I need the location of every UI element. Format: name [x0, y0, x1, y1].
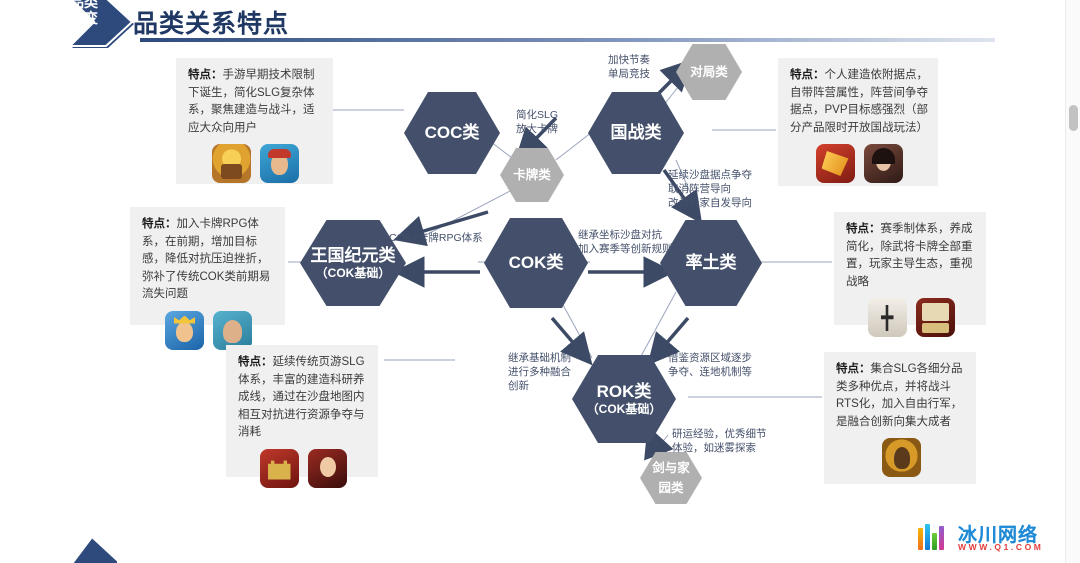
- logo-bars-icon: [918, 524, 952, 550]
- note-text: 特点：个人建造依附据点，自带阵营属性，阵营间争夺据点，PVP目标感强烈（部分产品…: [790, 67, 928, 137]
- note-text: 特点：手游早期技术限制下诞生，简化SLG复杂体系，聚焦建造与战斗，适应大众向用户: [188, 67, 323, 137]
- king-app-icon: [165, 311, 204, 350]
- note-text: 特点：集合SLG各细分品类多种优点，并将战斗RTS化，加入自由行军，是融合创新向…: [836, 361, 966, 431]
- note-card-shuaitu: 特点：赛季制体系，养成简化，除武将卡牌全部重置，玩家主导生态，重视战略: [834, 212, 986, 325]
- node-coc[interactable]: COC类: [404, 92, 500, 174]
- node-jianyu[interactable]: 剑与家 园类: [640, 452, 702, 504]
- hero-app-icon: [308, 449, 347, 488]
- note-app-icons: [188, 144, 323, 183]
- girl-hero-app-icon: [864, 144, 903, 183]
- logo-brand-url: WWW.Q1.COM: [958, 542, 1044, 552]
- node-duiju[interactable]: 对局类: [676, 44, 742, 100]
- edge-label-coc-to-kapai: 简化SLG放大卡牌: [516, 108, 558, 136]
- next-section-badge: [62, 527, 122, 563]
- note-card-guozhan: 特点：个人建造依附据点，自带阵营属性，阵营间争夺据点，PVP目标感强烈（部分产品…: [778, 58, 938, 186]
- note-app-icons: [846, 298, 976, 337]
- note-app-icons: [836, 438, 966, 477]
- note-card-wangguo: 特点：加入卡牌RPG体系，在前期，增加目标感，降低对抗压迫挫折，弥补了传统COK…: [130, 207, 285, 325]
- vertical-scrollbar-track[interactable]: [1065, 0, 1080, 563]
- edge-label-guozhan-to-duiju: 加快节奏单局竞技: [608, 53, 650, 81]
- rok-app-icon: [882, 438, 921, 477]
- ink-app-icon: [868, 298, 907, 337]
- node-rok[interactable]: ROK类 （COK基础）: [572, 355, 676, 443]
- note-card-cok: 特点：延续传统页游SLG体系，丰富的建造科研养成线，通过在沙盘地图内相互对抗进行…: [226, 345, 378, 477]
- company-logo: 冰川网络 WWW.Q1.COM: [918, 520, 1058, 556]
- note-card-coc: 特点：手游早期技术限制下诞生，简化SLG复杂体系，聚焦建造与战斗，适应大众向用户: [176, 58, 333, 184]
- edge-label-guozhan-to-shuaitu: 延续沙盘据点争夺 取消阵营导向 改为玩家自发导向: [668, 168, 752, 210]
- three-kingdoms-app-icon: [916, 298, 955, 337]
- node-kapai[interactable]: 卡牌类: [500, 148, 564, 202]
- vertical-scrollbar-thumb[interactable]: [1069, 105, 1078, 131]
- red-war-app-icon: [816, 144, 855, 183]
- note-app-icons: [790, 144, 928, 183]
- edge-label-shuaitu-to-rok: 借鉴资源区域逐步争夺、连地机制等: [668, 351, 752, 379]
- edge-label-jianyu-to-rok: 研运经验，优秀细节体验，如迷雾探索: [672, 427, 767, 455]
- node-cok[interactable]: COK类: [484, 218, 588, 308]
- slide-canvas: 品类 演变 品类关系特点: [0, 0, 1062, 563]
- castle-app-icon: [260, 449, 299, 488]
- note-text: 特点：加入卡牌RPG体系，在前期，增加目标感，降低对抗压迫挫折，弥补了传统COK…: [142, 216, 275, 304]
- edge-label-cok-to-wangguo: COK+卡牌RPG体系: [389, 231, 483, 245]
- node-shuaitu[interactable]: 率土类: [660, 220, 762, 306]
- coc-app-icon: [212, 144, 251, 183]
- note-text: 特点：赛季制体系，养成简化，除武将卡牌全部重置，玩家主导生态，重视战略: [846, 221, 976, 291]
- note-app-icons: [238, 449, 368, 488]
- note-card-rok: 特点：集合SLG各细分品类多种优点，并将战斗RTS化，加入自由行军，是融合创新向…: [824, 352, 976, 484]
- boom-beach-app-icon: [260, 144, 299, 183]
- edge-label-cok-to-rok: 继承基础机制 进行多种融合 创新: [508, 351, 571, 393]
- note-app-icons: [142, 311, 275, 350]
- section-badge-label: 品类 演变: [70, 0, 118, 26]
- edge-label-cok-to-shuaitu: 继承坐标沙盘对抗加入赛季等创新规则: [578, 228, 673, 256]
- note-text: 特点：延续传统页游SLG体系，丰富的建造科研养成线，通过在沙盘地图内相互对抗进行…: [238, 354, 368, 442]
- barbarian-app-icon: [213, 311, 252, 350]
- title-underline: [140, 38, 995, 42]
- page-title: 品类关系特点: [133, 4, 289, 40]
- node-guozhan[interactable]: 国战类: [588, 92, 684, 174]
